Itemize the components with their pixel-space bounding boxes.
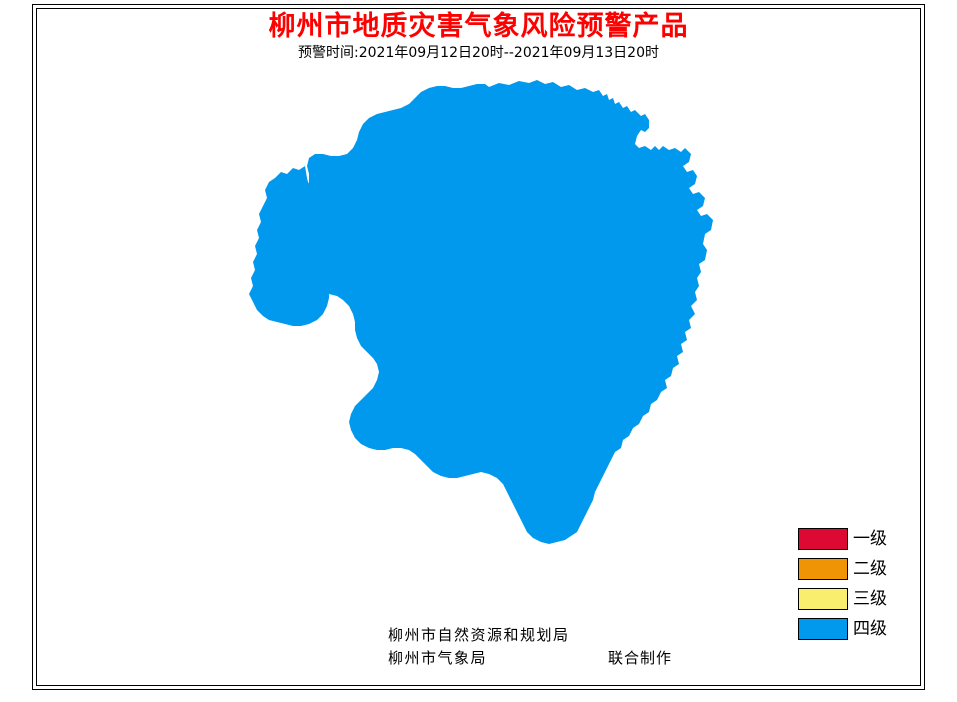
footer-joint-production: 联合制作	[608, 647, 672, 670]
legend-item-level-2[interactable]: 二级	[798, 558, 918, 580]
legend-label-level-4: 四级	[853, 618, 887, 640]
footer: 柳州市自然资源和规划局 柳州市气象局 联合制作	[388, 624, 808, 670]
footer-org-line-2-wrap: 柳州市气象局 联合制作	[388, 647, 808, 670]
map-area	[37, 70, 920, 615]
footer-org-line-2: 柳州市气象局	[388, 649, 487, 667]
footer-org-line-1: 柳州市自然资源和规划局	[388, 624, 808, 647]
legend-swatch-level-2	[798, 558, 848, 580]
liuzhou-region-map	[37, 70, 920, 615]
map-region-shape[interactable]	[249, 80, 713, 544]
legend-label-level-1: 一级	[853, 528, 887, 550]
legend-swatch-level-1	[798, 528, 848, 550]
legend-label-level-2: 二级	[853, 558, 887, 580]
legend-item-level-1[interactable]: 一级	[798, 528, 918, 550]
legend-label-level-3: 三级	[853, 588, 887, 610]
legend-item-level-3[interactable]: 三级	[798, 588, 918, 610]
warning-level-legend: 一级 二级 三级 四级	[798, 528, 918, 640]
legend-item-level-4[interactable]: 四级	[798, 618, 918, 640]
legend-swatch-level-3	[798, 588, 848, 610]
